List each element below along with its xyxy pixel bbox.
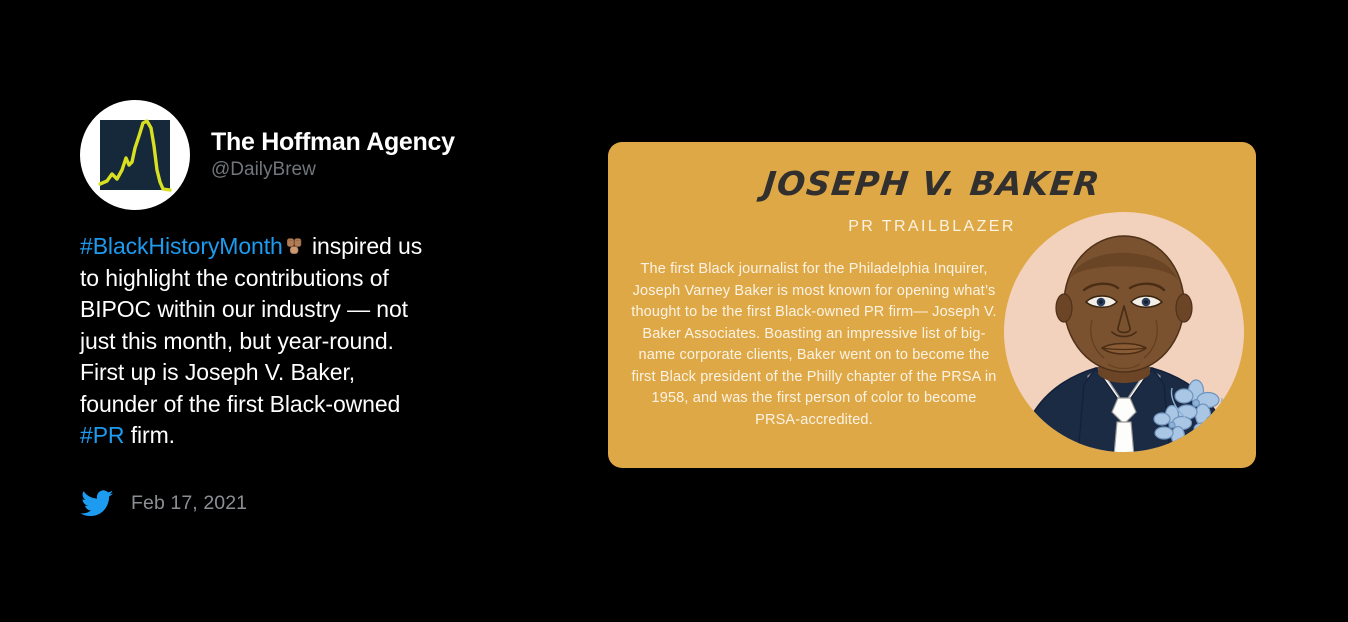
line-chart-logo-icon: [98, 118, 172, 192]
hashtag-pr[interactable]: #PR: [80, 422, 124, 448]
tweet-text: #BlackHistoryMonth inspired us to highli…: [80, 231, 432, 452]
avatar[interactable]: [80, 100, 190, 210]
card-body-text: The first Black journalist for the Phila…: [630, 259, 998, 431]
tweet-date: Feb 17, 2021: [131, 492, 247, 515]
raised-fist-icon: [283, 235, 306, 258]
tweet-card: The Hoffman Agency @DailyBrew #BlackHist…: [80, 100, 580, 518]
card-title: JOSEPH V. BAKER: [608, 164, 1256, 203]
tweet-footer: Feb 17, 2021: [80, 490, 580, 518]
twitter-bird-icon[interactable]: [80, 490, 114, 518]
portrait-illustration-icon: [1000, 208, 1248, 456]
account-identity: The Hoffman Agency @DailyBrew: [211, 128, 455, 183]
tweet-media-card[interactable]: JOSEPH V. BAKER PR TRAILBLAZER The first…: [608, 142, 1256, 468]
tweet-header: The Hoffman Agency @DailyBrew: [80, 100, 580, 210]
tweet-text-segment-2: firm.: [124, 422, 175, 448]
display-name: The Hoffman Agency: [211, 128, 455, 157]
account-handle: @DailyBrew: [211, 159, 455, 182]
tweet-text-segment-1: inspired us to highlight the contributio…: [80, 233, 422, 417]
hashtag-blackhistorymonth[interactable]: #BlackHistoryMonth: [80, 233, 283, 259]
